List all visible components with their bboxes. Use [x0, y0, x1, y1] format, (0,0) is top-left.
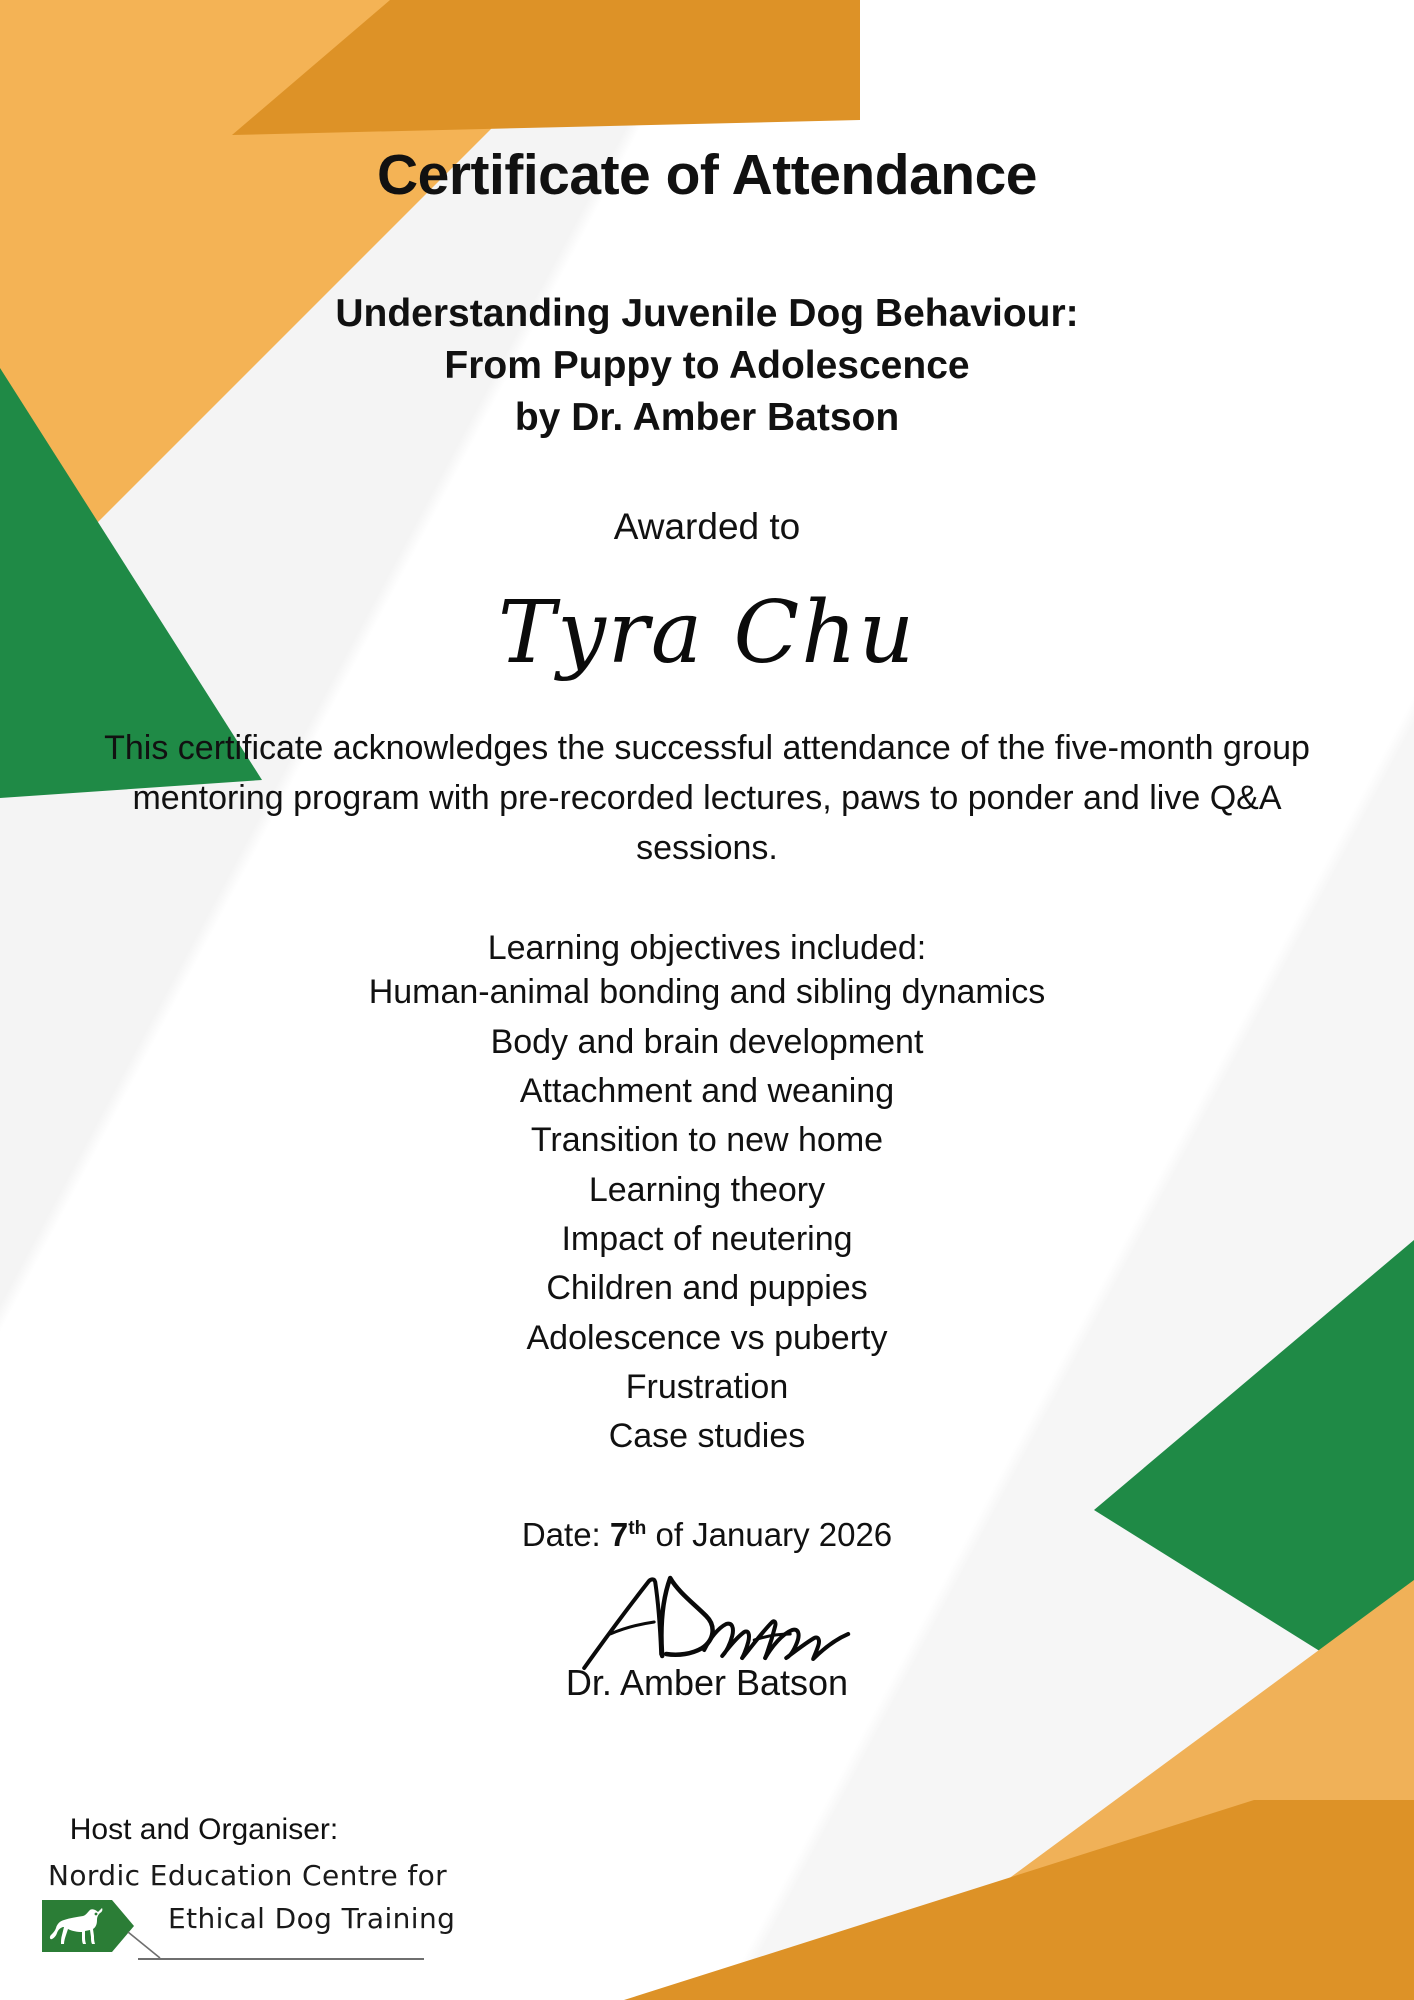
objective-item: Transition to new home — [70, 1116, 1344, 1165]
signer-name: Dr. Amber Batson — [70, 1662, 1344, 1704]
objective-item: Case studies — [70, 1412, 1344, 1461]
objective-item: Impact of neutering — [70, 1215, 1344, 1264]
body-paragraph: This certificate acknowledges the succes… — [70, 724, 1344, 874]
organisation-name-line-2: Ethical Dog Training — [168, 1902, 455, 1935]
logo-swoosh-icon — [126, 1930, 162, 1960]
certificate-page: Certificate of Attendance Understanding … — [0, 0, 1414, 2000]
issue-date: Date: 7th of January 2026 — [70, 1516, 1344, 1554]
objective-item: Human-animal bonding and sibling dynamic… — [70, 968, 1344, 1017]
host-organiser-block: Host and Organiser: Nordic Education Cen… — [42, 1813, 462, 1954]
organisation-name-line-1: Nordic Education Centre for — [48, 1859, 462, 1892]
awarded-to-label: Awarded to — [70, 506, 1344, 548]
course-title-line-3: by Dr. Amber Batson — [70, 392, 1344, 444]
course-title: Understanding Juvenile Dog Behaviour: Fr… — [70, 288, 1344, 444]
objective-item: Learning theory — [70, 1166, 1344, 1215]
objective-item: Frustration — [70, 1363, 1344, 1412]
logo-underline-rule — [138, 1958, 424, 1960]
recipient-name: Tyra Chu — [70, 590, 1344, 676]
course-title-line-1: Understanding Juvenile Dog Behaviour: — [70, 288, 1344, 340]
date-prefix: Date: — [522, 1516, 610, 1553]
dog-silhouette-icon — [42, 1898, 134, 1954]
date-rest: of January 2026 — [646, 1516, 892, 1553]
objective-item: Attachment and weaning — [70, 1067, 1344, 1116]
objective-item: Body and brain development — [70, 1018, 1344, 1067]
page-title: Certificate of Attendance — [70, 142, 1344, 208]
objective-item: Adolescence vs puberty — [70, 1314, 1344, 1363]
date-day: 7 — [610, 1516, 628, 1553]
signature-block: Dr. Amber Batson — [70, 1562, 1344, 1690]
course-title-line-2: From Puppy to Adolescence — [70, 340, 1344, 392]
objectives-list: Human-animal bonding and sibling dynamic… — [70, 968, 1344, 1461]
date-ordinal-suffix: th — [628, 1518, 646, 1539]
host-label: Host and Organiser: — [34, 1813, 374, 1847]
objectives-heading: Learning objectives included: — [70, 929, 1344, 968]
objective-item: Children and puppies — [70, 1264, 1344, 1313]
signature-image — [566, 1562, 886, 1674]
certificate-content: Certificate of Attendance Understanding … — [0, 142, 1414, 1690]
organisation-logo-row: Ethical Dog Training — [42, 1898, 462, 1954]
